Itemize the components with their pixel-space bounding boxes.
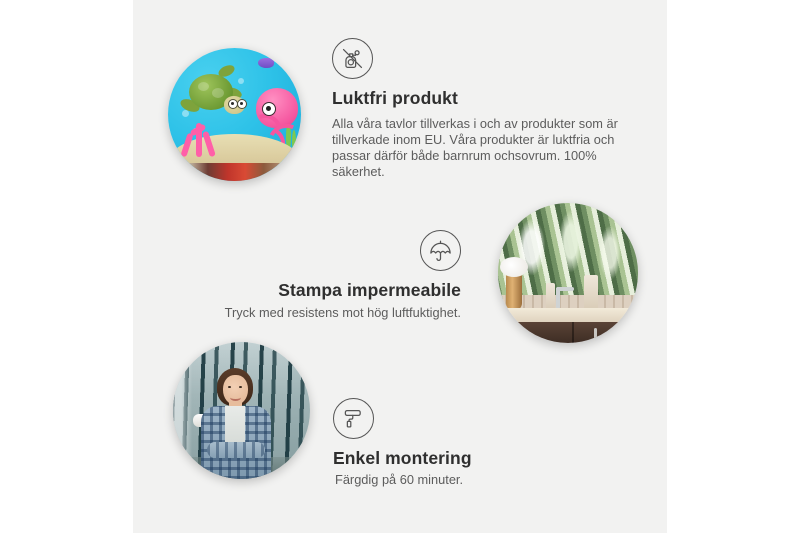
vanity-cabinet (498, 322, 638, 343)
feature-title: Luktfri produkt (332, 88, 627, 109)
feature-title: Stampa impermeabile (196, 280, 461, 301)
turtle-eye (237, 99, 247, 109)
product-photo-painter (173, 342, 310, 479)
product-photo-sea-life (168, 48, 301, 181)
feature-description: Tryck med resistens mot hög luftfuktighe… (196, 305, 461, 321)
fish-purple (258, 58, 274, 68)
candle (584, 275, 598, 311)
woman-crossed-arms (207, 442, 265, 458)
umbrella-icon (420, 230, 461, 271)
octopus-eye (262, 102, 276, 116)
woman-eye (228, 386, 231, 388)
woman-eye (239, 386, 242, 388)
door-handle (594, 328, 597, 343)
vase (506, 271, 522, 311)
woman-smile (230, 394, 241, 401)
photo-lower-strip (168, 163, 301, 181)
cabinet-seam (572, 322, 574, 343)
feature-title: Enkel montering (333, 448, 548, 469)
bubble (182, 110, 189, 117)
feature-description: Alla våra tavlor tillverkas i och av pro… (332, 116, 627, 180)
product-photo-bathroom (498, 203, 638, 343)
feature-block-odour-free: Luktfri produkt Alla våra tavlor tillver… (332, 38, 627, 180)
flowers (500, 257, 528, 277)
feature-description: Färgdig på 60 minuter. (333, 472, 548, 488)
product-feature-banner: Luktfri produkt Alla våra tavlor tillver… (0, 0, 800, 533)
candle (546, 283, 555, 311)
coral (180, 119, 220, 157)
no-fragrance-icon (332, 38, 373, 79)
paint-roller-icon (333, 398, 374, 439)
feature-block-waterproof: Stampa impermeabile Tryck med resistens … (196, 230, 461, 321)
faucet-spout (556, 287, 574, 291)
feature-block-easy-mounting: Enkel montering Färgdig på 60 minuter. (333, 398, 548, 488)
bubble (238, 78, 244, 84)
